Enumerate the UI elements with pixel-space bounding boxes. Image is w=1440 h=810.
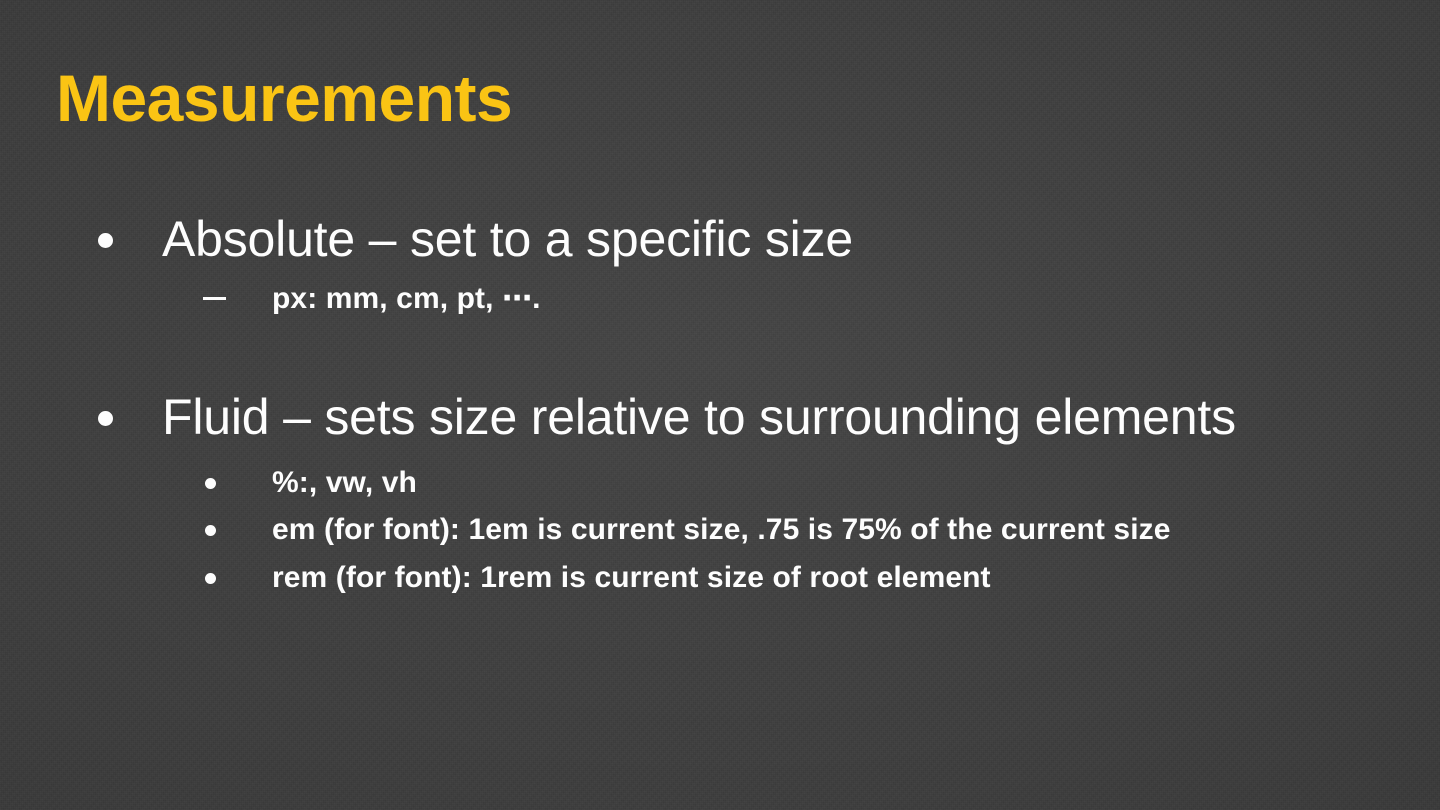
slide-title: Measurements <box>56 65 512 131</box>
bullet-level2-px: px: mm, cm, pt, ⋯. <box>0 277 1440 321</box>
bullet-level2-px-text: px: mm, cm, pt, ⋯. <box>272 282 541 315</box>
bullet-dot-icon <box>205 525 216 536</box>
slide-content: Measurements Absolute – set to a specifi… <box>0 0 1440 810</box>
bullet-level3-em-text: em (for font): 1em is current size, .75 … <box>272 513 1171 546</box>
bullet-dot-icon <box>98 233 113 248</box>
bullet-level1-fluid-text: Fluid – sets size relative to surroundin… <box>162 389 1236 445</box>
bullet-level3-rem-text: rem (for font): 1rem is current size of … <box>272 561 991 594</box>
bullet-level3-rem: rem (for font): 1rem is current size of … <box>0 556 1440 600</box>
bullet-level1-absolute: Absolute – set to a specific size <box>0 206 1440 273</box>
bullet-dash-icon <box>203 297 226 300</box>
bullet-level1-fluid: Fluid – sets size relative to surroundin… <box>0 384 1440 451</box>
bullet-list: Absolute – set to a specific size px: mm… <box>0 206 1440 599</box>
bullet-level3-em: em (for font): 1em is current size, .75 … <box>0 508 1440 552</box>
bullet-dot-icon <box>98 411 113 426</box>
bullet-dot-icon <box>205 478 216 489</box>
bullet-level3-percent: %:, vw, vh <box>0 461 1440 505</box>
bullet-level1-absolute-text: Absolute – set to a specific size <box>162 211 853 267</box>
spacer <box>0 451 1440 461</box>
bullet-level3-percent-text: %:, vw, vh <box>272 466 417 499</box>
slide: Measurements Absolute – set to a specifi… <box>0 0 1440 810</box>
spacer <box>0 320 1440 384</box>
bullet-dot-icon <box>205 573 216 584</box>
